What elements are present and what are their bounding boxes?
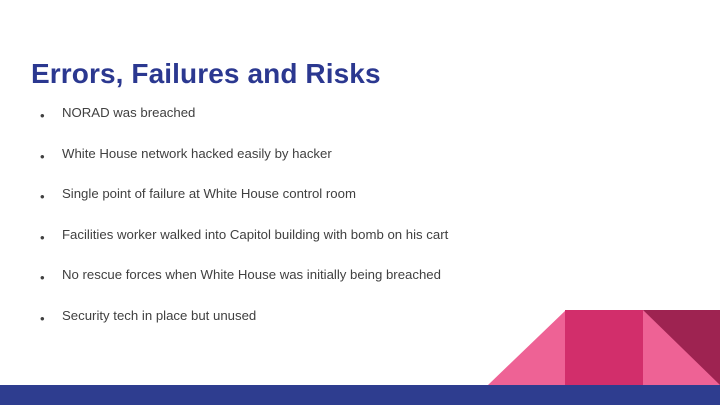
bullet-point-icon: • (40, 107, 50, 124)
list-item: • NORAD was breached (36, 104, 676, 145)
bullet-point-icon: • (40, 310, 50, 327)
bullet-point-icon: • (40, 188, 50, 205)
decorative-square-mid-pink (565, 310, 643, 385)
list-item: • Facilities worker walked into Capitol … (36, 226, 676, 267)
bullet-point-icon: • (40, 148, 50, 165)
list-item-label: Single point of failure at White House c… (62, 185, 356, 202)
list-item-label: White House network hacked easily by hac… (62, 145, 332, 162)
list-item: • No rescue forces when White House was … (36, 266, 676, 307)
list-item-label: No rescue forces when White House was in… (62, 266, 441, 283)
list-item-label: NORAD was breached (62, 104, 195, 121)
footer-bar (0, 385, 720, 405)
bullet-point-icon: • (40, 269, 50, 286)
list-item: • Single point of failure at White House… (36, 185, 676, 226)
list-item-label: Facilities worker walked into Capitol bu… (62, 226, 448, 243)
bullet-point-icon: • (40, 229, 50, 246)
slide-canvas: Errors, Failures and Risks • NORAD was b… (0, 0, 720, 405)
list-item-label: Security tech in place but unused (62, 307, 256, 324)
list-item: • White House network hacked easily by h… (36, 145, 676, 186)
page-title: Errors, Failures and Risks (31, 57, 381, 91)
